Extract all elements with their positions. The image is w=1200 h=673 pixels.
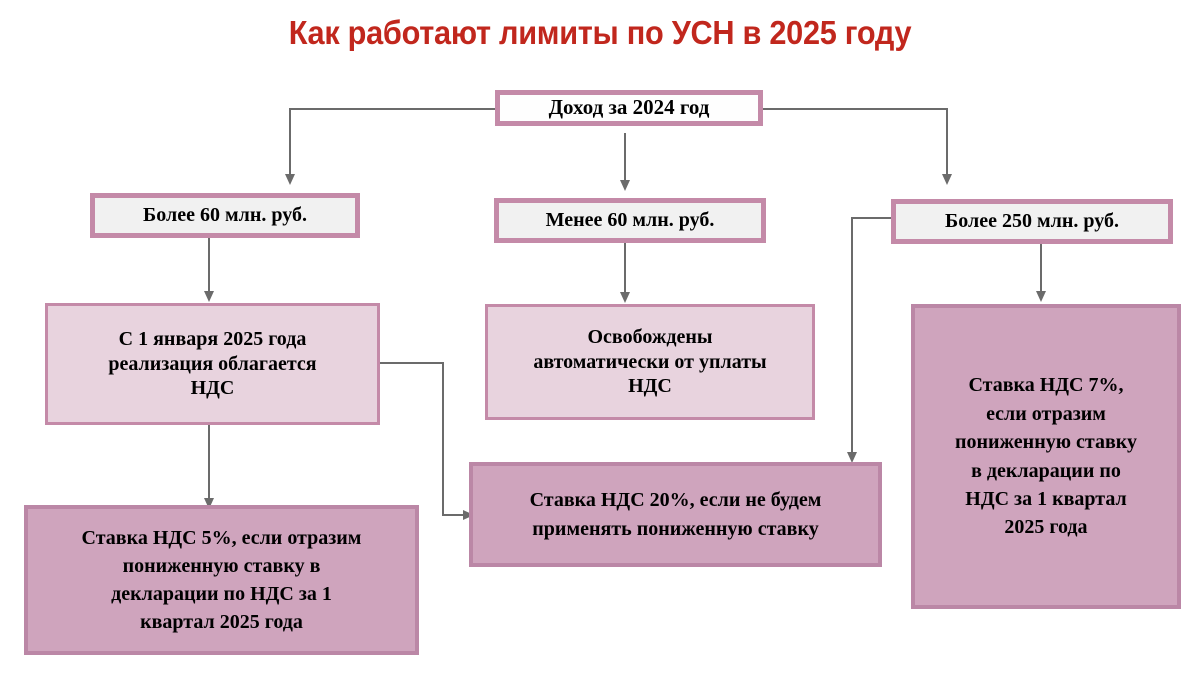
node-more-250-label: Более 250 млн. руб. — [937, 209, 1127, 233]
node-vat-from-january-line3: НДС — [100, 376, 324, 400]
node-rate-20-line1: Ставка НДС 20%, если не будем — [522, 486, 830, 515]
node-income-2024-label: Доход за 2024 год — [541, 95, 718, 121]
connector-income-to-more250-horizontal — [753, 108, 948, 110]
node-rate-5-label: Ставка НДС 5%, если отразим пониженную с… — [66, 524, 378, 636]
node-rate-7-label: Ставка НДС 7%, если отразим пониженную с… — [939, 371, 1153, 541]
connector-income-to-more60-horizontal — [290, 108, 495, 110]
connector-income-to-more60-vertical — [289, 108, 291, 176]
arrowhead-less60 — [620, 180, 630, 191]
connector-more60-to-vat-vertical — [208, 238, 210, 294]
node-more-60[interactable]: Более 60 млн. руб. — [90, 193, 360, 238]
node-exempt-automatically-line3: НДС — [525, 374, 774, 398]
connector-vat-to-rate5-vertical — [208, 425, 210, 501]
connector-income-to-more250-vertical — [946, 108, 948, 176]
node-exempt-automatically-line1: Освобождены — [525, 325, 774, 349]
arrowhead-more250 — [942, 174, 952, 185]
node-rate-5-line1: Ставка НДС 5%, если отразим — [74, 524, 370, 552]
flowchart-page: Как работают лимиты по УСН в 2025 году Д… — [0, 0, 1200, 673]
node-rate-7-line3: пониженную ставку — [947, 428, 1145, 456]
node-rate-5[interactable]: Ставка НДС 5%, если отразим пониженную с… — [24, 505, 419, 655]
arrowhead-vat-from-jan — [204, 291, 214, 302]
node-less-60-label: Менее 60 млн. руб. — [538, 208, 723, 232]
node-more-60-label: Более 60 млн. руб. — [135, 203, 315, 227]
node-rate-20-label: Ставка НДС 20%, если не будем применять … — [514, 486, 838, 544]
node-income-2024[interactable]: Доход за 2024 год — [495, 90, 763, 126]
connector-vat-to-rate20-vertical — [442, 362, 444, 515]
node-rate-5-line4: квартал 2025 года — [74, 608, 370, 636]
connector-more250-to-rate20-horizontal — [851, 217, 893, 219]
node-exempt-automatically-line2: автоматически от уплаты — [525, 350, 774, 374]
node-rate-5-line3: декларации по НДС за 1 — [74, 580, 370, 608]
node-rate-7-line1: Ставка НДС 7%, — [947, 371, 1145, 399]
connector-vat-to-rate20-horizontal-top — [380, 362, 444, 364]
node-vat-from-january-line2: реализация облагается — [100, 352, 324, 376]
node-more-250[interactable]: Более 250 млн. руб. — [891, 199, 1173, 244]
node-rate-7-line4: в декларации по — [947, 457, 1145, 485]
node-rate-20[interactable]: Ставка НДС 20%, если не будем применять … — [469, 462, 882, 567]
connector-more250-to-rate7-vertical — [1040, 244, 1042, 294]
node-rate-7-line5: НДС за 1 квартал — [947, 485, 1145, 513]
node-rate-5-line2: пониженную ставку в — [74, 552, 370, 580]
connector-more250-to-rate20-vertical — [851, 217, 853, 455]
arrowhead-more60 — [285, 174, 295, 185]
node-vat-from-january-label: С 1 января 2025 года реализация облагает… — [92, 327, 332, 400]
node-exempt-automatically-label: Освобождены автоматически от уплаты НДС — [517, 325, 782, 398]
node-less-60[interactable]: Менее 60 млн. руб. — [494, 198, 766, 243]
node-rate-7-line6: 2025 года — [947, 513, 1145, 541]
connector-less60-to-exempt-vertical — [624, 243, 626, 295]
node-exempt-automatically[interactable]: Освобождены автоматически от уплаты НДС — [485, 304, 815, 420]
node-rate-7-line2: если отразим — [947, 400, 1145, 428]
page-title: Как работают лимиты по УСН в 2025 году — [42, 14, 1158, 52]
arrowhead-rate7 — [1036, 291, 1046, 302]
connector-income-to-less60-vertical — [624, 133, 626, 183]
arrowhead-exempt-auto — [620, 292, 630, 303]
node-vat-from-january-line1: С 1 января 2025 года — [100, 327, 324, 351]
node-vat-from-january[interactable]: С 1 января 2025 года реализация облагает… — [45, 303, 380, 425]
node-rate-20-line2: применять пониженную ставку — [522, 515, 830, 544]
node-rate-7[interactable]: Ставка НДС 7%, если отразим пониженную с… — [911, 304, 1181, 609]
